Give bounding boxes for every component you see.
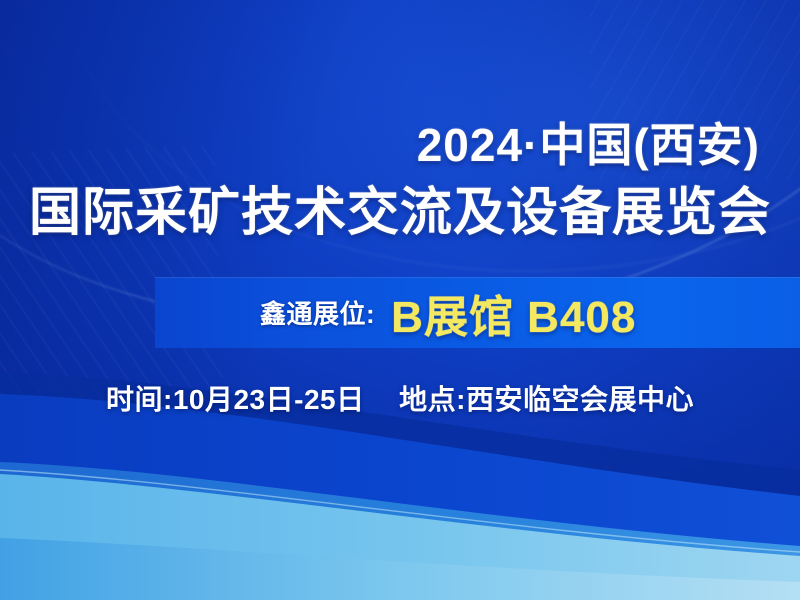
event-date: 时间:10月23日-25日 xyxy=(106,384,365,415)
booth-label: 鑫通展位: xyxy=(260,294,375,331)
poster-content: 2024·中国(西安) 国际采矿技术交流及设备展览会 鑫通展位: B展馆 B40… xyxy=(0,0,800,600)
event-meta-line: 时间:10月23日-25日 地点:西安临空会展中心 xyxy=(106,378,694,418)
booth-number: B展馆 B408 xyxy=(391,281,636,345)
page-title-line-2: 国际采矿技术交流及设备展览会 xyxy=(29,187,771,239)
page-title-line-1: 2024·中国(西安) xyxy=(417,122,760,168)
exhibition-poster: 2024·中国(西安) 国际采矿技术交流及设备展览会 鑫通展位: B展馆 B40… xyxy=(0,0,800,600)
booth-banner-bar: 鑫通展位: B展馆 B408 xyxy=(155,277,800,348)
event-venue: 地点:西安临空会展中心 xyxy=(399,384,694,415)
booth-banner-content: 鑫通展位: B展馆 B408 xyxy=(155,277,800,348)
